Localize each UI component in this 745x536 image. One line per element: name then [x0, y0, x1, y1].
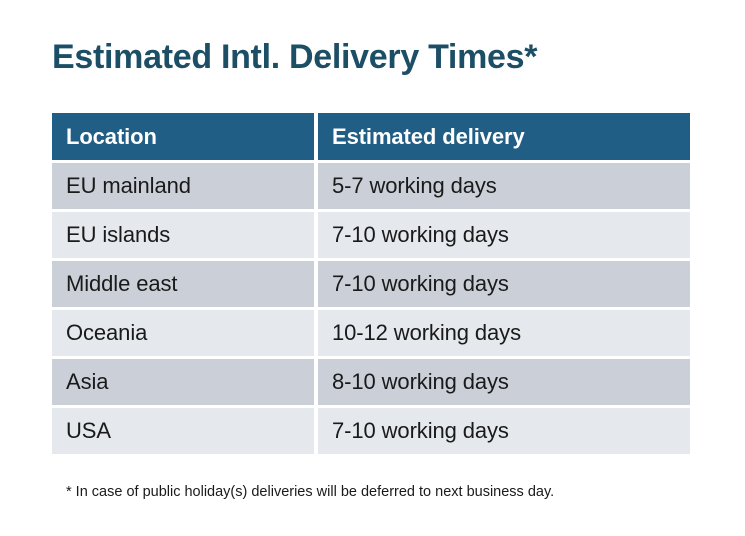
table-row: USA 7-10 working days: [52, 408, 690, 454]
cell-estimated-delivery: 7-10 working days: [318, 408, 690, 454]
cell-estimated-delivery: 10-12 working days: [318, 310, 690, 356]
footnote-text: * In case of public holiday(s) deliverie…: [66, 482, 554, 502]
delivery-times-card: Estimated Intl. Delivery Times* Location…: [0, 0, 745, 536]
cell-location: EU mainland: [52, 163, 314, 209]
cell-estimated-delivery: 7-10 working days: [318, 261, 690, 307]
cell-location: USA: [52, 408, 314, 454]
column-header-location: Location: [52, 113, 314, 160]
cell-estimated-delivery: 8-10 working days: [318, 359, 690, 405]
table-row: Asia 8-10 working days: [52, 359, 690, 405]
column-header-estimated-delivery: Estimated delivery: [318, 113, 690, 160]
delivery-times-table: Location Estimated delivery EU mainland …: [52, 113, 690, 454]
cell-location: EU islands: [52, 212, 314, 258]
cell-location: Oceania: [52, 310, 314, 356]
cell-location: Asia: [52, 359, 314, 405]
table-row: EU islands 7-10 working days: [52, 212, 690, 258]
table-row: Middle east 7-10 working days: [52, 261, 690, 307]
page-title: Estimated Intl. Delivery Times*: [52, 36, 537, 78]
table-header-row: Location Estimated delivery: [52, 113, 690, 160]
table-row: Oceania 10-12 working days: [52, 310, 690, 356]
table-row: EU mainland 5-7 working days: [52, 163, 690, 209]
cell-location: Middle east: [52, 261, 314, 307]
cell-estimated-delivery: 5-7 working days: [318, 163, 690, 209]
cell-estimated-delivery: 7-10 working days: [318, 212, 690, 258]
